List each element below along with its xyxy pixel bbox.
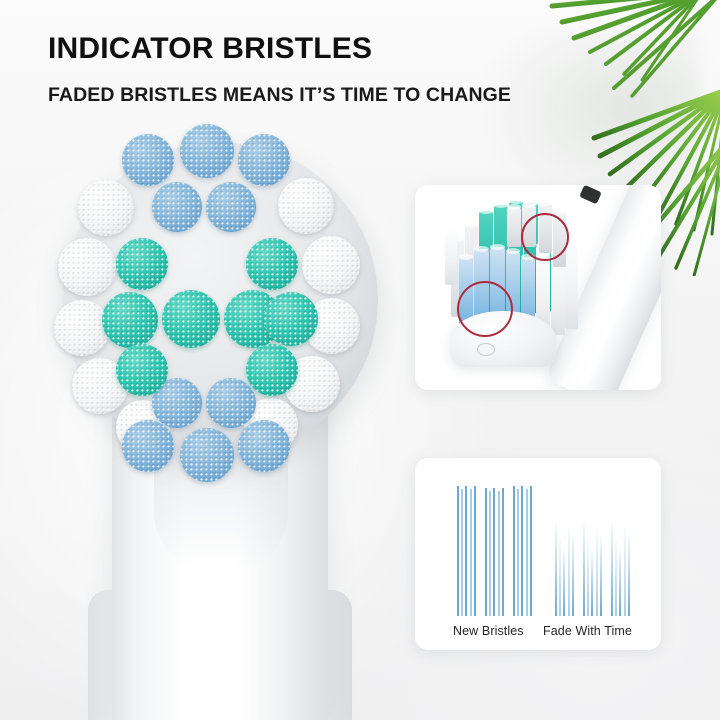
new-bristle-bar (498, 491, 500, 616)
bristle-tuft (180, 124, 234, 178)
page-title: INDICATOR BRISTLES (48, 32, 372, 66)
new-bristle-bar (530, 486, 532, 616)
inset-card-fade-comparison: New Bristles Fade With Time (415, 458, 661, 650)
bristle-tuft (102, 292, 158, 348)
faded-bristle-bar (568, 489, 570, 616)
inset-base-ring (477, 343, 495, 356)
new-bristle-bar (485, 488, 487, 616)
pin-cap (509, 198, 523, 204)
faded-bristle-bar (600, 488, 602, 616)
angled-brush-illustration (415, 185, 661, 390)
bristle-tuft (302, 236, 360, 294)
faded-bristle-bar (587, 491, 589, 616)
bristle-tuft (116, 344, 168, 396)
new-bristle-bar (521, 486, 523, 616)
new-bristle-bar (526, 489, 528, 616)
pin-cap (553, 208, 566, 214)
new-bristle-bar (502, 488, 504, 616)
product-infographic: INDICATOR BRISTLES FADED BRISTLES MEANS … (0, 0, 720, 720)
bristle-tuft (122, 134, 174, 186)
annotation-circle-faded-indicator-bristle-top (521, 213, 569, 261)
pin-cap (539, 200, 552, 206)
pin-cap (522, 202, 536, 208)
faded-bristles-illustration (555, 486, 641, 616)
faded-bristle-bar (624, 489, 626, 616)
faded-bristle-bar (555, 486, 557, 616)
bristle-tuft (206, 378, 256, 428)
inset-bristle-pin (507, 207, 521, 247)
bristle-tuft (152, 182, 202, 232)
bristle-tuft (264, 292, 318, 346)
faded-bristle-bar (591, 488, 593, 616)
faded-bristle-bar (563, 486, 565, 616)
bristle-tuft (122, 420, 174, 472)
bristle-tuft (58, 238, 116, 296)
new-bristle-bar (470, 489, 472, 616)
bristle-tuft (78, 180, 134, 236)
pin-cap (494, 202, 508, 208)
inset-bristle-pin (445, 225, 457, 285)
new-bristles-illustration (457, 486, 543, 616)
new-bristle-bar (474, 486, 476, 616)
pin-cap (465, 222, 478, 228)
pin-cap (507, 204, 521, 210)
bristle-tuft (238, 134, 290, 186)
new-bristle-bar (513, 486, 515, 616)
bristle-tuft (238, 420, 290, 472)
pin-cap (459, 254, 473, 260)
new-bristle-bar (493, 488, 495, 616)
new-bristle-bar (461, 489, 463, 616)
faded-bristle-bar (611, 486, 613, 616)
page-subtitle: FADED BRISTLES MEANS IT’S TIME TO CHANGE (48, 84, 511, 107)
fade-with-time-label: Fade With Time (543, 624, 632, 638)
new-bristle-bar (465, 486, 467, 616)
inset-bristle-pin (565, 237, 578, 329)
pin-cap (479, 208, 493, 214)
bristle-tuft (246, 344, 298, 396)
new-bristles-label: New Bristles (453, 624, 524, 638)
pin-cap (490, 244, 505, 250)
faded-bristle-bar (615, 489, 617, 616)
new-bristle-bar (517, 489, 519, 616)
pin-cap (506, 248, 520, 254)
pin-cap (445, 222, 457, 228)
inset-card-angled-brush (415, 185, 661, 390)
bristle-tuft (246, 238, 298, 290)
pin-cap (474, 246, 489, 252)
bristle-tuft (180, 428, 234, 482)
annotation-circle-faded-indicator-bristle-lower (457, 281, 513, 337)
new-bristle-bar (457, 486, 459, 616)
new-bristle-bar (489, 491, 491, 616)
faded-bristle-bar (572, 486, 574, 616)
faded-bristle-bar (596, 491, 598, 616)
faded-bristle-bar (619, 486, 621, 616)
brush-head-hero (52, 120, 392, 720)
power-button-icon (579, 185, 602, 204)
faded-bristle-bar (583, 488, 585, 616)
bristle-tuft (116, 238, 168, 290)
faded-bristle-bar (559, 489, 561, 616)
bristle-tuft (162, 290, 220, 348)
bristle-tuft (206, 182, 256, 232)
faded-bristle-bar (628, 486, 630, 616)
bristle-tuft (278, 178, 334, 234)
bristle-tuft (54, 300, 110, 356)
